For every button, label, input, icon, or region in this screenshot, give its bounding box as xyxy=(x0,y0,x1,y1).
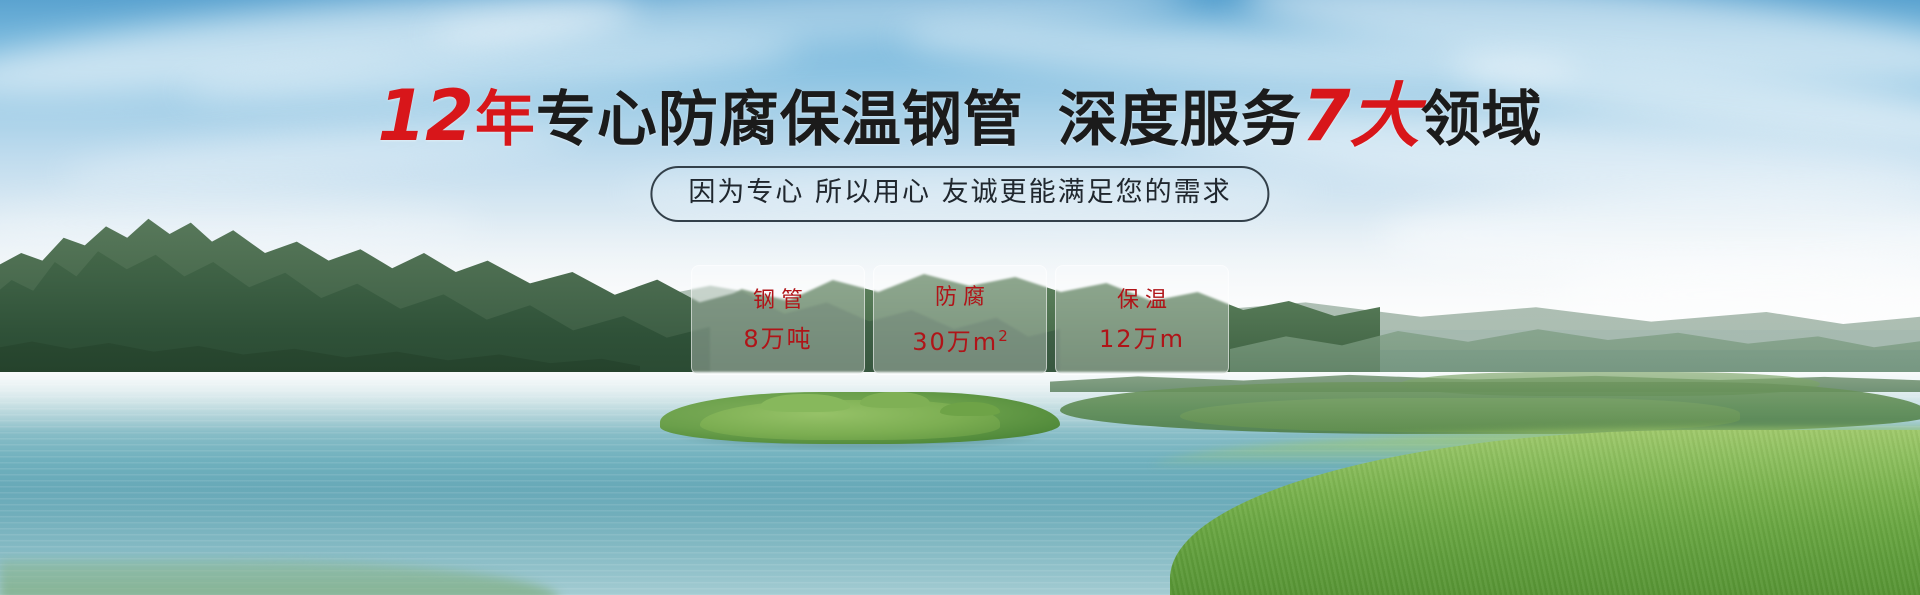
stat-card-label: 保温 xyxy=(1111,286,1173,316)
stat-card-value: 30万m2 xyxy=(912,321,1007,357)
stat-card-anticorrosion: 防腐 30万m2 xyxy=(873,265,1047,375)
stat-card-insulation: 保温 12万m xyxy=(1055,265,1229,375)
banner-headline: 12年专心防腐保温钢管深度服务7大领域 xyxy=(0,84,1920,152)
stat-card-value: 12万m xyxy=(1099,324,1185,354)
stat-card-value-exponent: 2 xyxy=(998,327,1008,345)
hero-banner: 12年专心防腐保温钢管深度服务7大领域 因为专心 所以用心 友诚更能满足您的需求… xyxy=(0,0,1920,595)
banner-content: 12年专心防腐保温钢管深度服务7大领域 因为专心 所以用心 友诚更能满足您的需求… xyxy=(0,0,1920,595)
banner-subtitle-pill: 因为专心 所以用心 友诚更能满足您的需求 xyxy=(650,166,1269,222)
headline-fields-number: 7大 xyxy=(1302,75,1421,157)
headline-part-one: 专心防腐保温钢管 xyxy=(536,85,1024,155)
stat-card-value: 8万吨 xyxy=(743,324,812,354)
stat-card-label: 防腐 xyxy=(929,283,991,313)
banner-subtitle-text: 因为专心 所以用心 友诚更能满足您的需求 xyxy=(688,177,1231,208)
stat-card-value-main: 30万m xyxy=(912,328,998,356)
stat-card-label: 钢管 xyxy=(747,286,809,316)
stat-card-steel-pipe: 钢管 8万吨 xyxy=(691,265,865,375)
stat-card-value-main: 8万吨 xyxy=(743,325,812,353)
stat-card-value-main: 12万m xyxy=(1099,325,1185,353)
headline-years-number: 12 xyxy=(377,75,474,157)
stat-card-group: 钢管 8万吨 防腐 30万m2 保温 12万m xyxy=(691,265,1229,375)
headline-years-unit: 年 xyxy=(475,85,536,155)
headline-part-two: 深度服务 xyxy=(1058,85,1302,155)
headline-part-three: 领域 xyxy=(1421,85,1543,155)
